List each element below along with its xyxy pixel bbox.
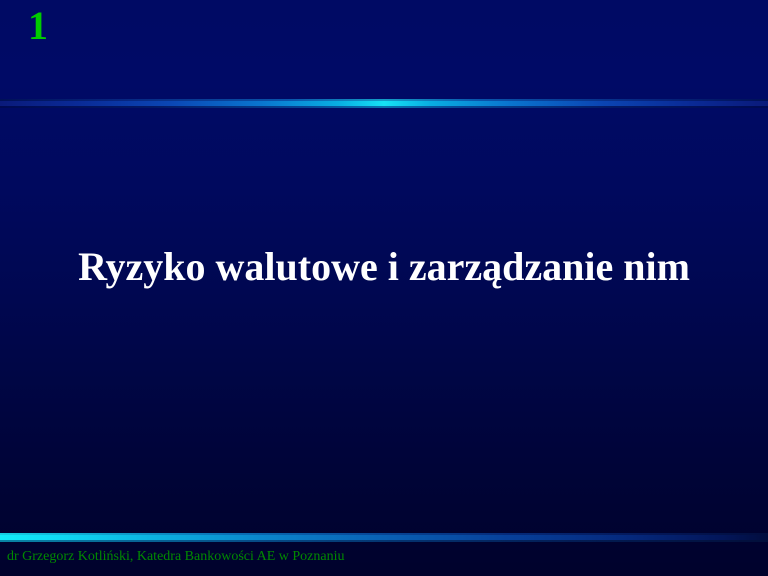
slide-title: Ryzyko walutowe i zarządzanie nim [0,243,768,291]
bottom-divider-rule [0,533,768,542]
top-divider-shadow [0,106,768,108]
slide-footer-author: dr Grzegorz Kotliński, Katedra Bankowośc… [7,548,344,566]
top-divider-rule [0,99,768,108]
bottom-divider-shadow [0,540,768,542]
slide-number: 1 [28,6,48,46]
presentation-slide: 1 Ryzyko walutowe i zarządzanie nim dr G… [0,0,768,576]
